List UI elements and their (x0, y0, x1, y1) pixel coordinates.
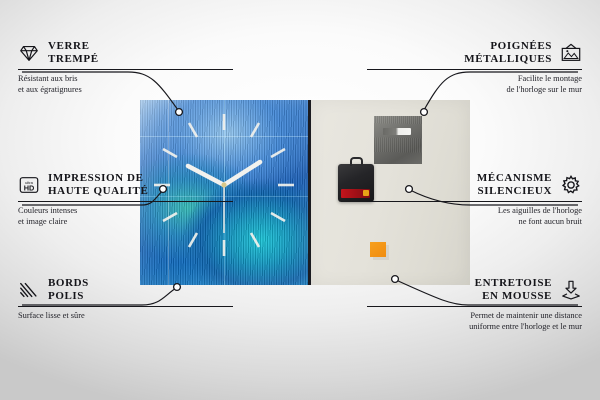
feature-desc-line1: Permet de maintenir une distance (367, 310, 582, 321)
feature-header: BORDS POLIS (18, 277, 233, 303)
feature-title-line1: VERRE (48, 40, 99, 53)
feature-title: POIGNÉES MÉTALLIQUES (464, 40, 552, 66)
feature-mecanisme-silencieux: MÉCANISME SILENCIEUX Les aiguilles de l'… (367, 172, 582, 227)
feature-desc-line2: et aux égratignures (18, 84, 233, 95)
polished-edges-icon (18, 279, 40, 301)
feature-title-line1: BORDS (48, 277, 89, 290)
feature-desc-line2: et image claire (18, 216, 233, 227)
feature-verre-trempe: VERRE TREMPÉ Résistant aux bris et aux é… (18, 40, 233, 95)
picture-hanger-icon (560, 42, 582, 64)
feature-rule (18, 306, 233, 307)
feature-title-line2: POLIS (48, 290, 89, 303)
feature-desc-line1: Résistant aux bris (18, 73, 233, 84)
feature-desc-line2: ne font aucun bruit (367, 216, 582, 227)
feature-desc-line1: Surface lisse et sûre (18, 310, 233, 321)
feature-title: BORDS POLIS (48, 277, 89, 303)
feature-header: POIGNÉES MÉTALLIQUES (367, 40, 582, 66)
feature-title: MÉCANISME SILENCIEUX (477, 172, 552, 198)
feature-description: Surface lisse et sûre (18, 310, 233, 321)
feature-entretoise-en-mousse: ENTRETOISE EN MOUSSE Permet de maintenir… (367, 277, 582, 332)
feature-title-line2: HAUTE QUALITÉ (48, 185, 148, 198)
feature-title-line2: TREMPÉ (48, 53, 99, 66)
feature-description: Résistant aux bris et aux égratignures (18, 73, 233, 95)
feature-header: ultra HD IMPRESSION DE HAUTE QUALITÉ (18, 172, 233, 198)
metal-hanger-plate (374, 116, 422, 164)
feature-desc-line1: Couleurs intenses (18, 205, 233, 216)
feature-rule (367, 69, 582, 70)
feature-title-line2: SILENCIEUX (477, 185, 552, 198)
feature-title: ENTRETOISE EN MOUSSE (475, 277, 552, 303)
feature-title: VERRE TREMPÉ (48, 40, 99, 66)
feature-impression-haute-qualite: ultra HD IMPRESSION DE HAUTE QUALITÉ Cou… (18, 172, 233, 227)
feature-header: MÉCANISME SILENCIEUX (367, 172, 582, 198)
hanger-slot (383, 128, 411, 135)
feature-bords-polis: BORDS POLIS Surface lisse et sûre (18, 277, 233, 321)
feature-desc-line1: Les aiguilles de l'horloge (367, 205, 582, 216)
feature-desc-line2: uniforme entre l'horloge et le mur (367, 321, 582, 332)
feature-description: Les aiguilles de l'horloge ne font aucun… (367, 205, 582, 227)
feature-header: VERRE TREMPÉ (18, 40, 233, 66)
feature-desc-line2: de l'horloge sur le mur (367, 84, 582, 95)
feature-rule (367, 201, 582, 202)
feature-header: ENTRETOISE EN MOUSSE (367, 277, 582, 303)
feature-title: IMPRESSION DE HAUTE QUALITÉ (48, 172, 148, 198)
feature-description: Permet de maintenir une distance uniform… (367, 310, 582, 332)
feature-rule (18, 69, 233, 70)
feature-poignees-metalliques: POIGNÉES MÉTALLIQUES Facilite le montage… (367, 40, 582, 95)
feature-description: Facilite le montage de l'horloge sur le … (367, 73, 582, 95)
feature-title-line2: EN MOUSSE (475, 290, 552, 303)
feature-description: Couleurs intenses et image claire (18, 205, 233, 227)
infographic-stage: VERRE TREMPÉ Résistant aux bris et aux é… (0, 0, 600, 400)
feature-title-line1: POIGNÉES (464, 40, 552, 53)
feature-title-line2: MÉTALLIQUES (464, 53, 552, 66)
feature-title-line1: IMPRESSION DE (48, 172, 148, 185)
battery (341, 189, 370, 198)
foam-spacer-icon (560, 279, 582, 301)
diamond-icon (18, 42, 40, 64)
feature-rule (18, 201, 233, 202)
svg-text:HD: HD (24, 183, 35, 192)
feature-title-line1: MÉCANISME (477, 172, 552, 185)
mechanism-hanging-loop (350, 157, 363, 166)
ultra-hd-icon: ultra HD (18, 174, 40, 196)
feature-title-line1: ENTRETOISE (475, 277, 552, 290)
feature-rule (367, 306, 582, 307)
gear-icon (560, 174, 582, 196)
feature-desc-line1: Facilite le montage (367, 73, 582, 84)
foam-spacer-square (370, 242, 386, 257)
